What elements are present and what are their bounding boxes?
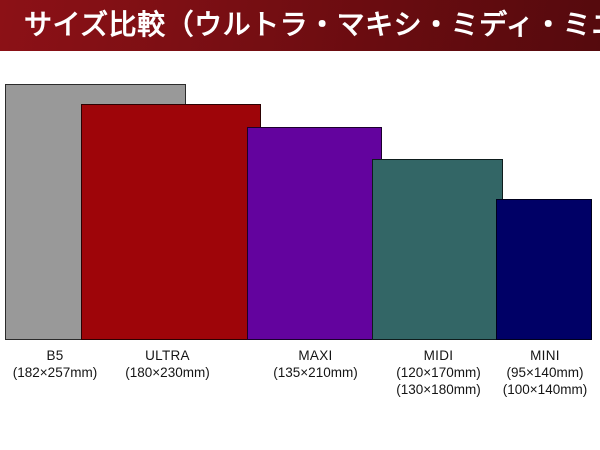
axis-label-b5-dimension-1: (182×257mm) [0, 364, 110, 381]
bar-maxi [247, 127, 382, 340]
chart-plot-area: B5 (182×257mm) ULTRA (180×230mm) MAXI (1… [0, 51, 600, 450]
axis-label-midi-name: MIDI [381, 347, 496, 364]
size-comparison-chart: サイズ比較（ウルトラ・マキシ・ミディ・ミニ） B5 (182×257mm) UL… [0, 0, 600, 450]
axis-label-mini-dimension-1: (95×140mm) [490, 364, 600, 381]
axis-label-midi-dimension-1: (120×170mm) [381, 364, 496, 381]
axis-label-maxi-name: MAXI [258, 347, 373, 364]
axis-label-ultra: ULTRA (180×230mm) [110, 347, 225, 381]
axis-label-ultra-name: ULTRA [110, 347, 225, 364]
bar-ultra [81, 104, 261, 340]
axis-label-b5: B5 (182×257mm) [0, 347, 110, 381]
bar-mini [496, 199, 592, 340]
page-title: サイズ比較（ウルトラ・マキシ・ミディ・ミニ） [24, 7, 600, 43]
bar-midi [372, 159, 503, 340]
title-bar: サイズ比較（ウルトラ・マキシ・ミディ・ミニ） [0, 0, 600, 51]
axis-label-mini-name: MINI [490, 347, 600, 364]
axis-label-maxi: MAXI (135×210mm) [258, 347, 373, 381]
axis-label-mini-dimension-2: (100×140mm) [490, 381, 600, 398]
axis-label-ultra-dimension-1: (180×230mm) [110, 364, 225, 381]
axis-label-midi-dimension-2: (130×180mm) [381, 381, 496, 398]
axis-label-b5-name: B5 [0, 347, 110, 364]
axis-label-maxi-dimension-1: (135×210mm) [258, 364, 373, 381]
axis-label-mini: MINI (95×140mm) (100×140mm) [490, 347, 600, 398]
axis-label-midi: MIDI (120×170mm) (130×180mm) [381, 347, 496, 398]
